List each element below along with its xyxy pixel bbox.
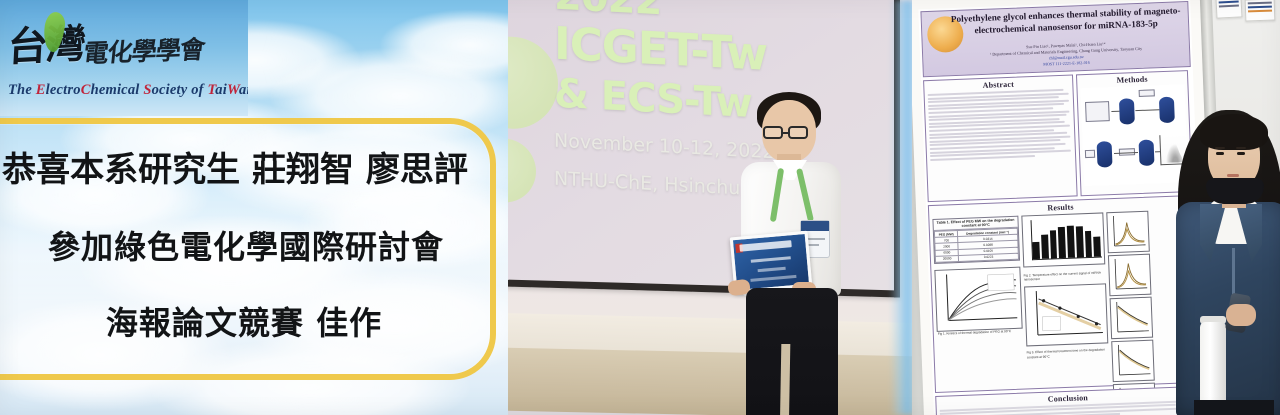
congratulation-line-3: 海報論文競賽 佳作	[106, 306, 382, 341]
label-line	[1248, 2, 1272, 5]
flow-arrow-icon	[1111, 111, 1119, 112]
voltammetry-peak-plot	[1108, 254, 1152, 297]
thermal-treatment-plot	[1024, 284, 1108, 347]
label-line	[1219, 4, 1239, 7]
fig2-caption: Fig 2. Temperature effect on the current…	[1024, 270, 1106, 281]
eyeglasses-right-lens	[788, 126, 808, 139]
certificate-text-line	[751, 256, 791, 262]
recipient-black-trousers	[746, 288, 838, 415]
nanoparticle-icon	[1097, 141, 1113, 168]
presenter-mouth	[1227, 174, 1239, 177]
bar-85	[1084, 231, 1092, 257]
poster-results-section: Results Table 1. Effect of PEG MW on the…	[928, 195, 1200, 393]
bar-65	[1067, 225, 1075, 258]
congratulation-line-1: 恭喜本系研究生 莊翔智 廖思評	[2, 152, 468, 189]
electrochemical-society-logo: 台灣 電化學學會 The ElectroChemical Society of …	[0, 0, 248, 116]
congratulation-text-block: 恭喜本系研究生 莊翔智 廖思評 參加綠色電化學國際研討會 海報論文競賽 佳作	[0, 118, 496, 380]
label-line	[1248, 10, 1272, 13]
poster-header: Polyethylene glycol enhances thermal sta…	[920, 1, 1190, 77]
poster-author-block: Ssu-Pin Liao¹, Pawepas Malai¹, Chi-Hsien…	[949, 38, 1184, 72]
logo-en-e: E	[36, 82, 46, 98]
logo-english-name: The ElectroChemical Society of TaiWan	[8, 82, 248, 99]
results-column-table: Table 1. Effect of PEG MW on the degrada…	[932, 216, 1028, 415]
table-cell: 0.0223	[959, 253, 1019, 261]
poster-title: Polyethylene glycol enhances thermal sta…	[950, 5, 1183, 37]
research-poster: Polyethylene glycol enhances thermal sta…	[918, 0, 1205, 413]
voltammetry-peak-plot	[1106, 211, 1150, 254]
poster-photo-panel: Polyethylene glycol enhances thermal sta…	[912, 0, 1280, 415]
leg-separation	[779, 344, 791, 415]
thermal-plot-svg	[1025, 285, 1107, 346]
certificate-text-line	[758, 267, 786, 272]
bar-35	[1041, 234, 1049, 258]
decay-curve-plot	[1111, 340, 1155, 383]
certificate-header-band	[739, 240, 791, 252]
label-line	[1248, 6, 1272, 9]
presenter-hair-front	[1200, 114, 1268, 150]
logo-en-w: W	[227, 82, 239, 98]
logo-en-ociety: ociety of	[152, 82, 208, 98]
kinetics-plot-svg	[935, 268, 1021, 331]
logo-en-c: C	[81, 82, 91, 98]
small-plot-svg	[1107, 212, 1148, 253]
small-plot-svg	[1111, 298, 1152, 339]
logo-en-an: an	[239, 82, 248, 98]
table-cell: 20000	[935, 255, 959, 262]
slide-circle-decoration	[508, 138, 536, 204]
logo-en-the: The	[8, 82, 36, 98]
table1: PEG (MW) Degradation constant (min⁻¹) 70…	[934, 228, 1019, 263]
label-line	[1219, 0, 1239, 3]
left-congratulation-panel: 台灣 電化學學會 The ElectroChemical Society of …	[0, 0, 508, 415]
logo-en-s: S	[143, 82, 151, 98]
decay-curve-plot	[1110, 297, 1154, 340]
presenter-eye-right	[1237, 152, 1245, 155]
fig3-caption: Fig 3. Effect of thermal treatment time …	[1027, 348, 1109, 359]
congratulation-line-2: 參加綠色電化學國際研討會	[48, 230, 444, 265]
bar-75	[1076, 226, 1084, 257]
logo-en-ai: ai	[215, 82, 227, 98]
logo-en-hemical: hemical	[91, 82, 144, 98]
promo-banner-image: 台灣 電化學學會 The ElectroChemical Society of …	[0, 0, 1280, 415]
temperature-bar-chart	[1021, 212, 1105, 267]
results-grid: Table 1. Effect of PEG MW on the degrada…	[932, 209, 1199, 415]
small-plot-svg	[1112, 341, 1153, 382]
session-label-card	[1245, 0, 1276, 22]
presenter-hand	[1226, 304, 1256, 326]
nanoparticle-icon	[1139, 139, 1155, 166]
presenter-eye-left	[1216, 152, 1224, 155]
logo-chinese-sub: 電化學學會	[82, 30, 206, 70]
bar-chart-bars	[1032, 220, 1101, 260]
flow-arrow-icon	[1135, 109, 1159, 111]
eyeglasses-left-lens	[763, 126, 783, 139]
presenter-eyebrow-left	[1215, 147, 1225, 149]
poster-abstract-section: Abstract	[923, 74, 1078, 202]
bar-95	[1093, 236, 1101, 256]
bar-45	[1049, 230, 1057, 258]
badge-header-bar	[801, 221, 829, 231]
poster-presenter-figure	[1170, 108, 1280, 415]
poster-results-row: Results Table 1. Effect of PEG MW on the…	[926, 195, 1205, 393]
logo-en-lectro: lectro	[46, 82, 81, 98]
degradation-constant-table: Table 1. Effect of PEG MW on the degrada…	[932, 216, 1020, 264]
small-plot-svg	[1109, 255, 1150, 296]
slide-circle-decoration	[508, 35, 558, 130]
presenter-trousers	[1194, 400, 1274, 415]
bar-25	[1032, 241, 1039, 259]
eyeglasses-bridge	[783, 132, 788, 134]
certificate-text-line	[750, 275, 796, 282]
face-mask-lowered	[1206, 178, 1264, 204]
bar-55	[1058, 227, 1066, 258]
kinetics-line-plot: Fig 1. Kinetics of thermal degradation o…	[934, 267, 1022, 332]
schematic-box	[1139, 89, 1155, 97]
presenter-eyebrow-right	[1236, 147, 1246, 149]
nanoparticle-icon	[1119, 98, 1135, 125]
award-photo-panel: 2022 ICGET-Tw & ECS-Tw November 10-12, 2…	[508, 0, 912, 415]
schematic-box	[1085, 150, 1095, 158]
results-column-charts: Fig 2. Temperature effect on the current…	[1021, 212, 1113, 415]
poster-upper-row: Abstract	[921, 70, 1197, 202]
session-label-card	[1215, 0, 1242, 19]
schematic-box	[1085, 101, 1110, 122]
award-recipient-figure	[730, 92, 860, 415]
